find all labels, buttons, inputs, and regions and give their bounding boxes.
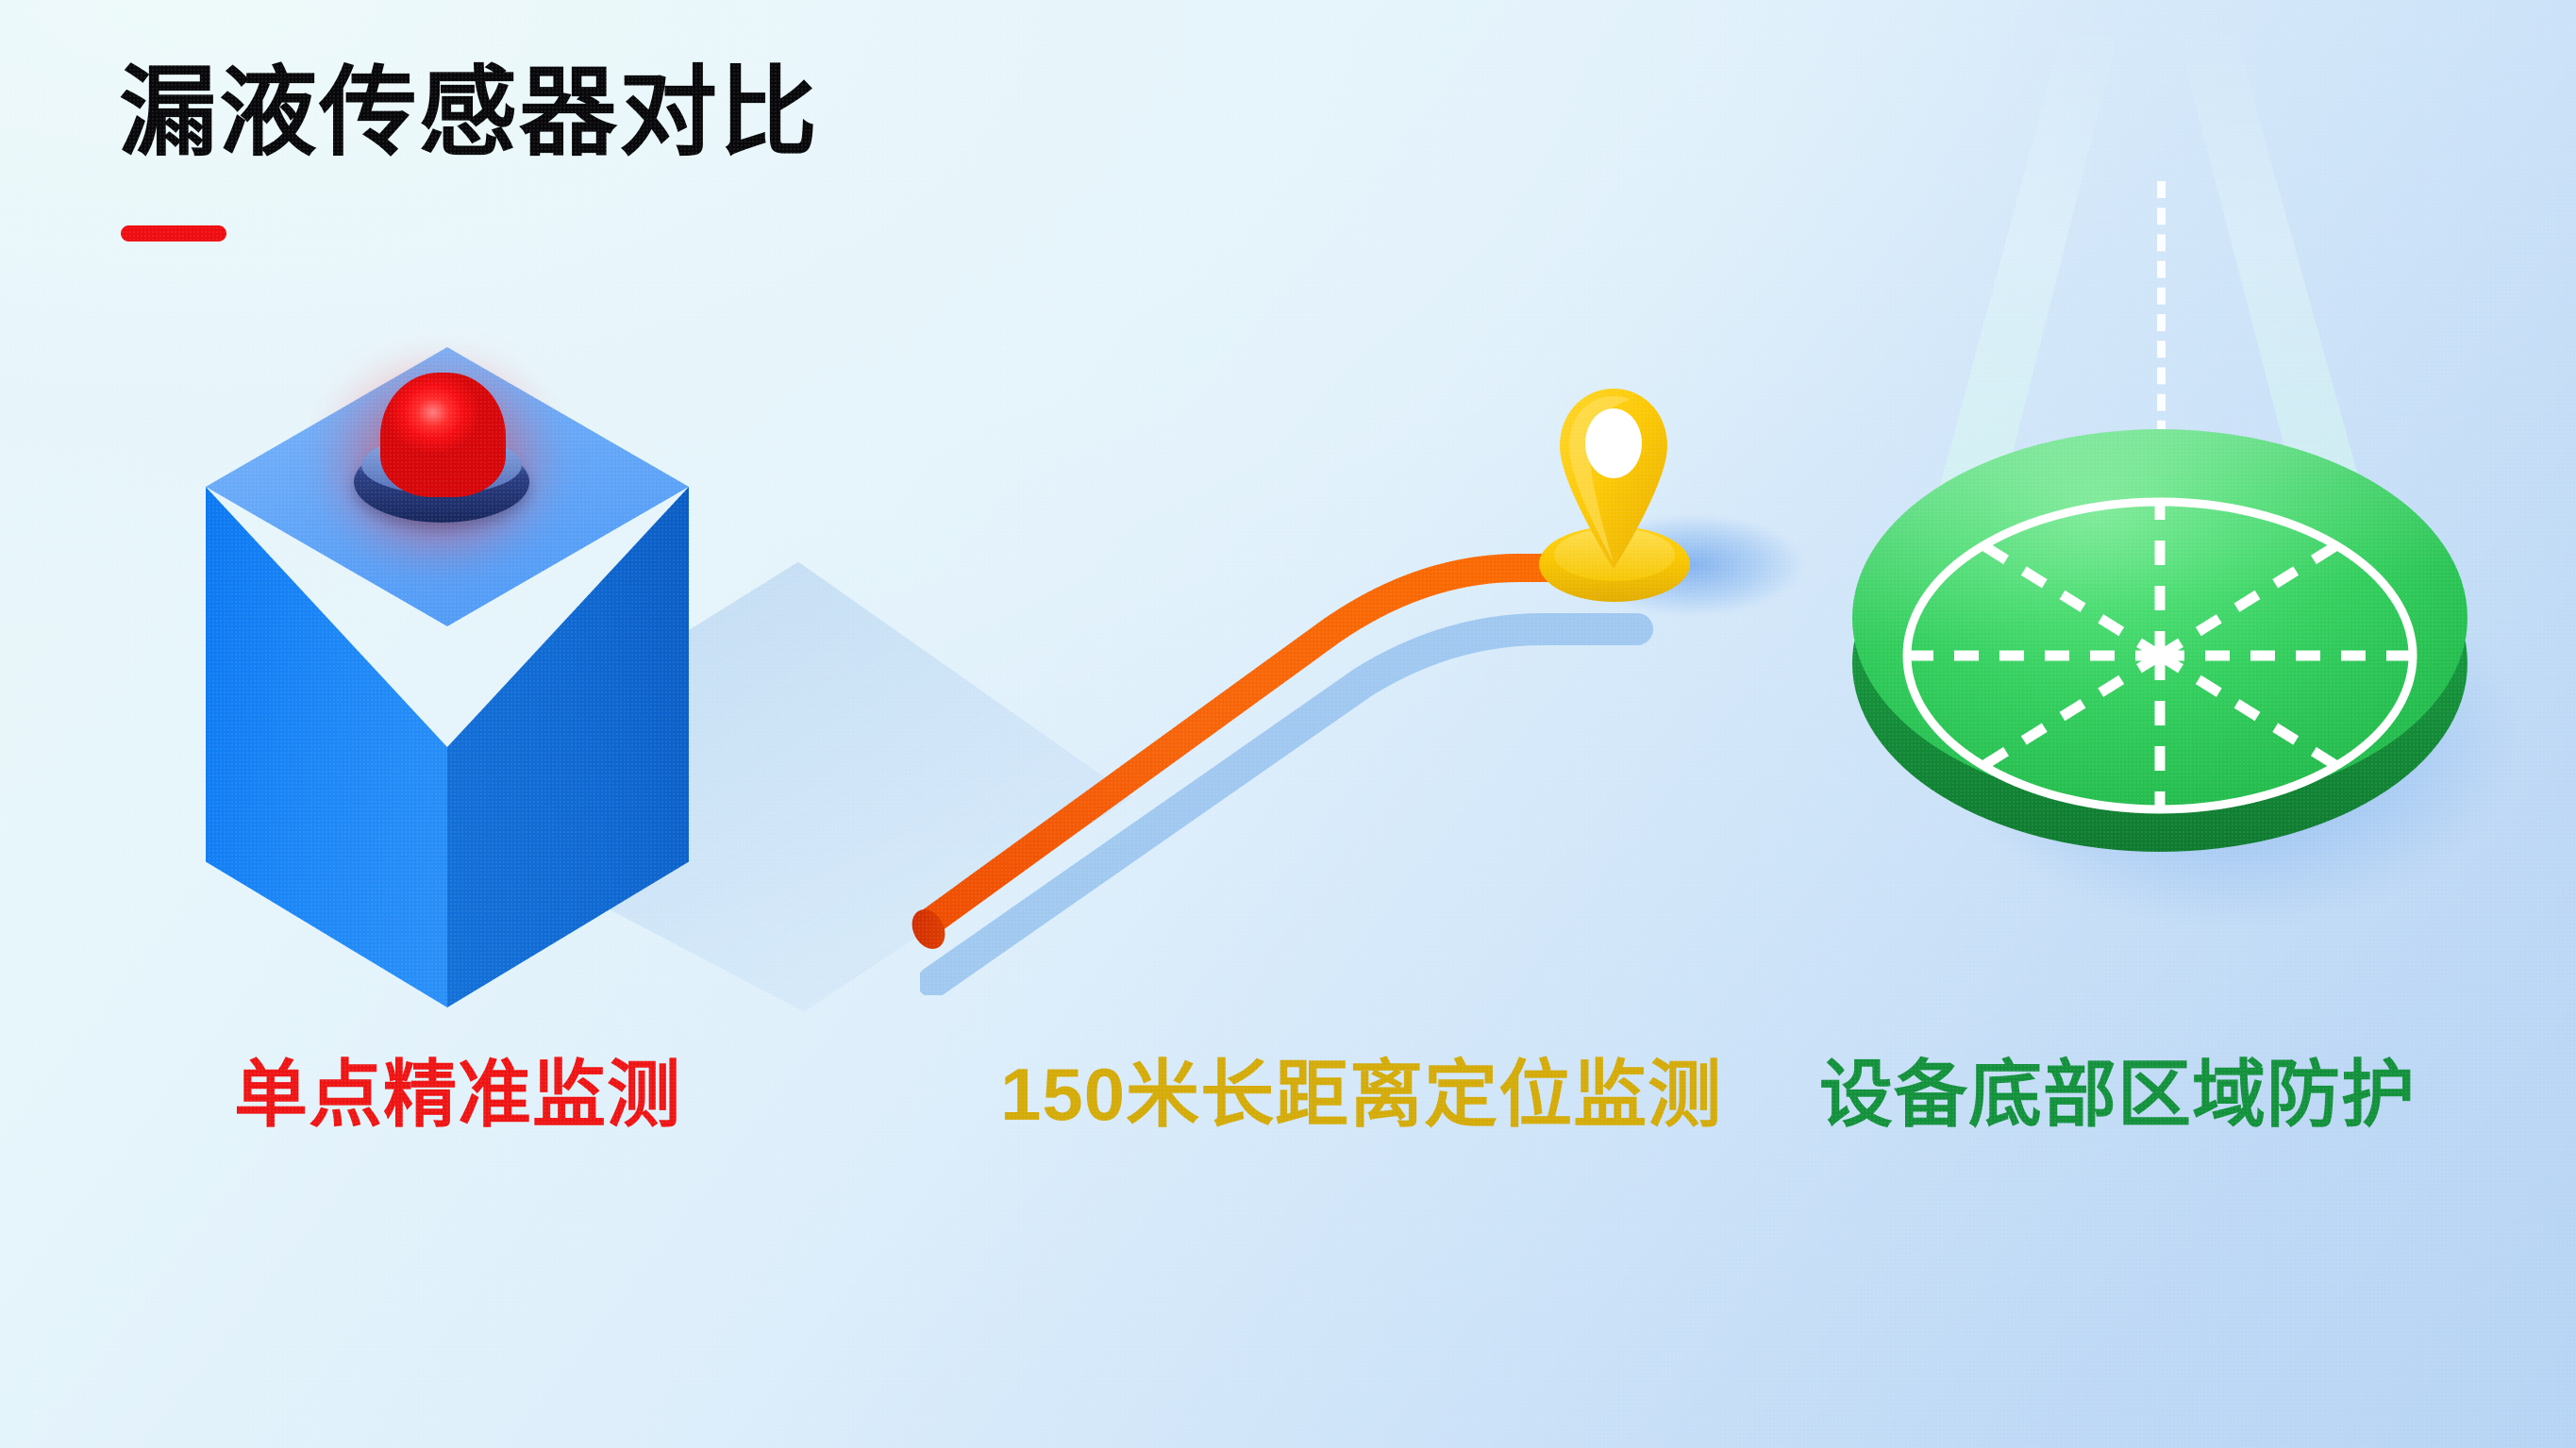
title-accent-bar xyxy=(121,225,226,241)
pin-body xyxy=(1554,387,1673,571)
radar-grid xyxy=(1852,429,2467,882)
infographic-canvas: 漏液传感器对比 单点精准监测 xyxy=(0,0,2576,1448)
page-title: 漏液传感器对比 xyxy=(119,58,819,168)
caption-long-distance: 150米长距离定位监测 xyxy=(1000,1036,1722,1141)
caption-single-point: 单点精准监测 xyxy=(234,1036,681,1141)
red-led-icon xyxy=(380,373,506,497)
location-pin-icon xyxy=(1533,387,1694,604)
dashed-axis-up xyxy=(2157,181,2166,464)
caption-area-protection: 设备底部区域防护 xyxy=(1819,1036,2416,1141)
radar-disc-icon xyxy=(1852,429,2467,882)
